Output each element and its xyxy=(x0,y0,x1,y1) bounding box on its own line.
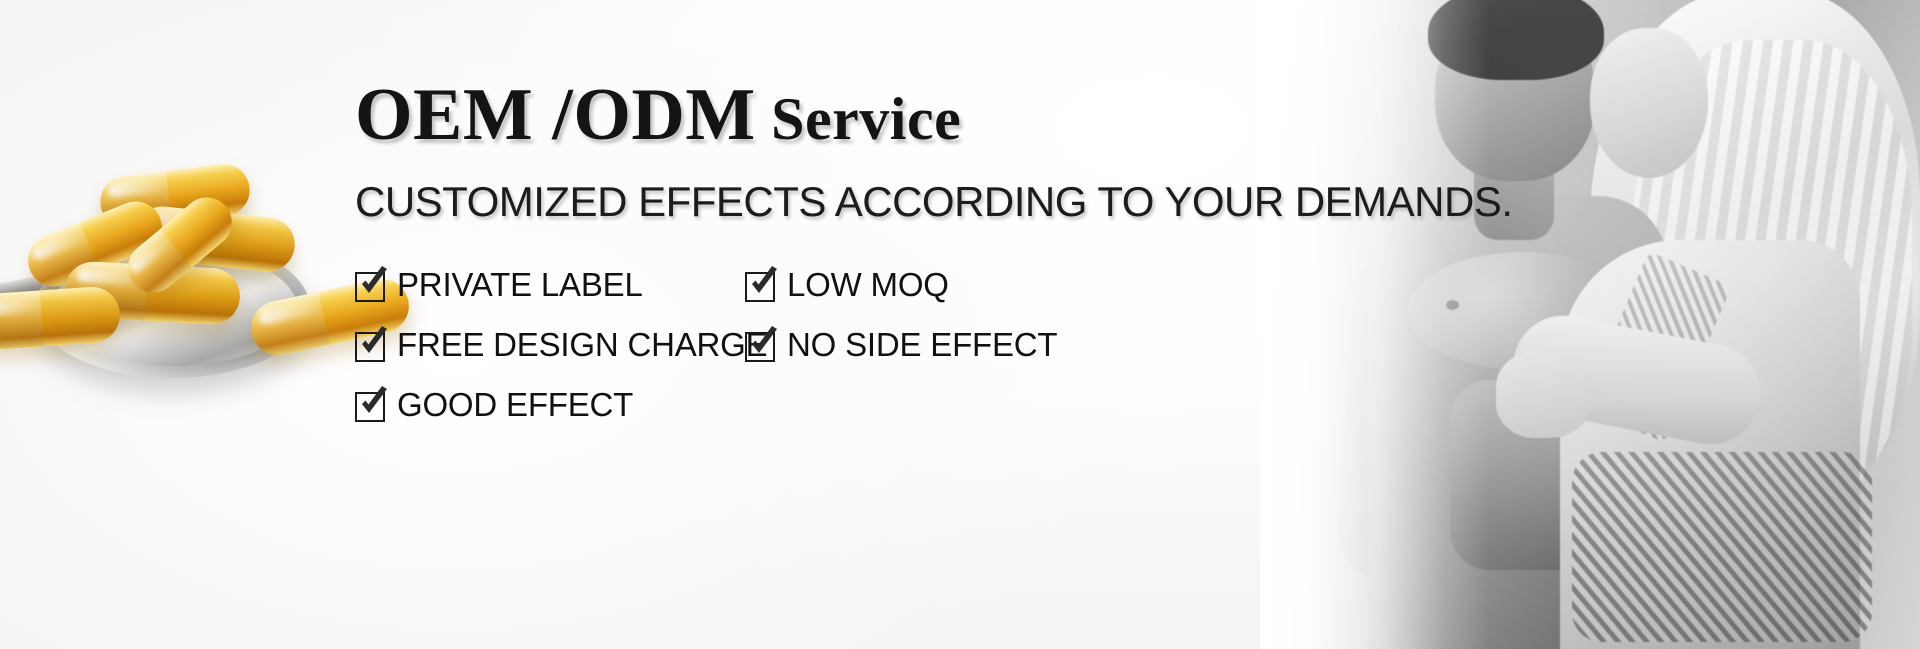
title-main: OEM /ODM xyxy=(355,74,756,156)
banner-copy: OEM /ODM Service CUSTOMIZED EFFECTS ACCO… xyxy=(355,78,1315,424)
list-item-label: PRIVATE LABEL xyxy=(397,266,643,304)
list-item: PRIVATE LABEL xyxy=(355,266,745,304)
title-suffix: Service xyxy=(756,86,962,152)
checkbox-checked-icon xyxy=(745,270,775,300)
list-item-label: NO SIDE EFFECT xyxy=(787,326,1057,364)
list-item: LOW MOQ xyxy=(745,266,1135,304)
promo-banner: OEM /ODM Service CUSTOMIZED EFFECTS ACCO… xyxy=(0,0,1920,649)
checkbox-checked-icon xyxy=(355,330,385,360)
list-item-label: FREE DESIGN CHARGE xyxy=(397,326,767,364)
list-item: GOOD EFFECT xyxy=(355,386,745,424)
banner-subtitle: CUSTOMIZED EFFECTS ACCORDING TO YOUR DEM… xyxy=(355,178,1315,226)
page-title: OEM /ODM Service xyxy=(355,78,1315,152)
checkbox-checked-icon xyxy=(355,270,385,300)
checkbox-checked-icon xyxy=(745,330,775,360)
checkbox-checked-icon xyxy=(355,390,385,420)
feature-list: PRIVATE LABEL LOW MOQ FREE DESIGN CHARGE xyxy=(355,266,1315,424)
list-item-label: GOOD EFFECT xyxy=(397,386,633,424)
list-item: NO SIDE EFFECT xyxy=(745,326,1135,364)
list-item: FREE DESIGN CHARGE xyxy=(355,326,745,364)
grayscale-couple-photo xyxy=(1260,0,1920,649)
list-item-label: LOW MOQ xyxy=(787,266,949,304)
